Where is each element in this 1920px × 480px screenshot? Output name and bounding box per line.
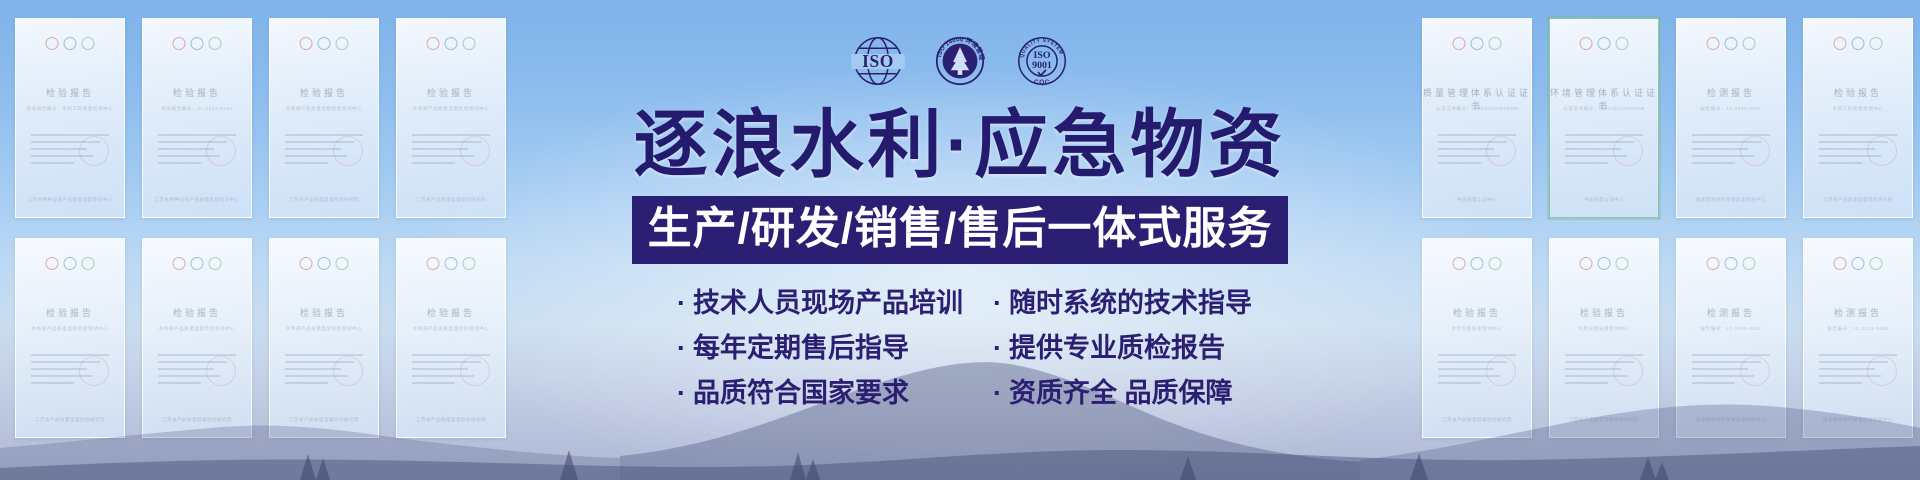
svg-text:CQC: CQC	[1034, 79, 1050, 86]
feature-label: 技术人员现场产品培训	[693, 290, 963, 317]
feature-label: 品质符合国家要求	[693, 380, 909, 407]
bullet-dot-icon: ·	[677, 380, 686, 407]
promotional-banner: 检验报告检验报告编号：水利工程质量检测中心江苏省特种设备产品质量监督检验中心检验…	[0, 0, 1920, 480]
bullet-dot-icon: ·	[993, 290, 1002, 317]
bullet-dot-icon: ·	[677, 290, 686, 317]
feature-item: · 每年定期售后指导	[677, 335, 967, 362]
feature-item: · 资质齐全 品质保障	[993, 380, 1243, 407]
iso-globe-badge: ISO	[849, 32, 907, 90]
bullet-dot-icon: ·	[993, 335, 1002, 362]
svg-text:9001: 9001	[1032, 60, 1052, 71]
page-title: 逐浪水利·应急物资	[634, 108, 1287, 182]
feature-item: · 提供专业质检报告	[993, 335, 1243, 362]
svg-text:ISO: ISO	[862, 51, 894, 71]
feature-list: · 技术人员现场产品培训 · 随时系统的技术指导 · 每年定期售后指导 · 提供…	[677, 290, 1243, 407]
feature-label: 随时系统的技术指导	[1009, 290, 1252, 317]
feature-label: 资质齐全 品质保障	[1009, 380, 1233, 407]
banner-content: ISO ISO 14000 环境管理 QUALITY SYSTEM	[0, 0, 1920, 480]
bullet-dot-icon: ·	[993, 380, 1002, 407]
iso-9001-cqc-badge: QUALITY SYSTEM ISO 9001 CQC	[1013, 32, 1071, 90]
certification-badges: ISO ISO 14000 环境管理 QUALITY SYSTEM	[849, 32, 1071, 90]
feature-label: 每年定期售后指导	[693, 335, 909, 362]
iso-14000-environment-badge: ISO 14000 环境管理	[931, 32, 989, 90]
feature-item: · 技术人员现场产品培训	[677, 290, 967, 317]
feature-item: · 品质符合国家要求	[677, 380, 967, 407]
service-subtitle-bar: 生产/研发/销售/售后一体式服务	[632, 196, 1289, 264]
feature-item: · 随时系统的技术指导	[993, 290, 1243, 317]
feature-label: 提供专业质检报告	[1009, 335, 1225, 362]
bullet-dot-icon: ·	[677, 335, 686, 362]
